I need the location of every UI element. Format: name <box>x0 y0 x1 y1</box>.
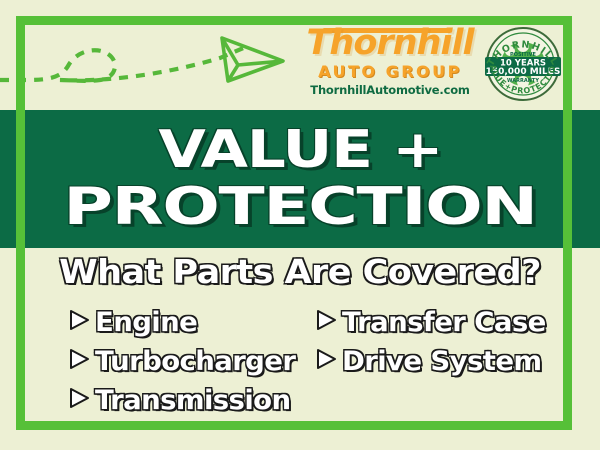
title-line-2: PROTECTION <box>63 178 536 236</box>
logo-subtitle-text: AUTO GROUP <box>305 63 475 80</box>
logo-brand-text: Thornhill <box>305 24 475 62</box>
triangle-right-icon <box>68 308 90 337</box>
main-title: VALUE + PROTECTION <box>0 110 600 248</box>
covered-parts-left-column: Engine Turbocharger Transmission <box>68 303 291 420</box>
triangle-right-icon <box>315 308 337 337</box>
subtitle-question: What Parts Are Covered? <box>0 252 600 291</box>
list-item: Engine <box>68 303 291 342</box>
list-item: Drive System <box>315 342 542 381</box>
promo-graphic: Thornhill AUTO GROUP ThornhillAutomotive… <box>0 0 600 450</box>
thornhill-logo[interactable]: Thornhill AUTO GROUP ThornhillAutomotive… <box>305 24 475 104</box>
triangle-right-icon <box>315 347 337 376</box>
list-item-label: Transmission <box>95 386 290 416</box>
title-line-1: VALUE + <box>158 122 442 178</box>
list-item: Transmission <box>68 381 291 420</box>
covered-parts-list: Engine Turbocharger Transmission Tra <box>0 303 600 425</box>
list-item-label: Transfer Case <box>342 308 546 338</box>
triangle-right-icon <box>68 386 90 415</box>
badge-lower-small: WARRANTY <box>507 78 539 84</box>
triangle-right-icon <box>68 347 90 376</box>
header: Thornhill AUTO GROUP ThornhillAutomotive… <box>0 0 600 110</box>
dashed-path-arrow-icon <box>0 18 300 103</box>
list-item-label: Drive System <box>342 347 541 377</box>
list-item-label: Engine <box>95 308 197 338</box>
list-item-label: Turbocharger <box>95 347 295 377</box>
covered-parts-right-column: Transfer Case Drive System <box>315 303 542 381</box>
logo-website-url: ThornhillAutomotive.com <box>305 83 475 98</box>
list-item: Transfer Case <box>315 303 542 342</box>
warranty-badge: POSITIVE 10 YEARS 150,000 MILES WARRANTY… <box>481 24 565 104</box>
list-item: Turbocharger <box>68 342 291 381</box>
